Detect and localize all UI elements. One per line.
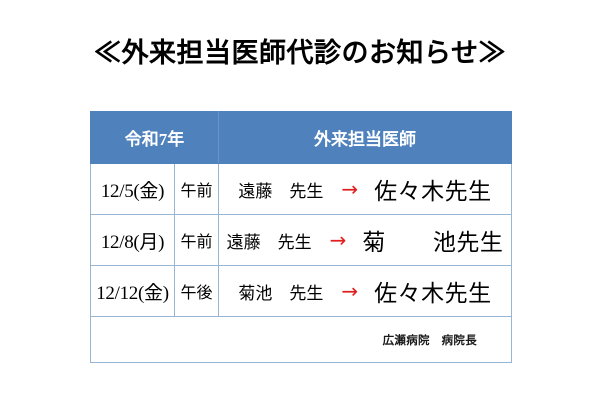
cell-doctor: 遠藤 先生 → 佐々木先生 bbox=[219, 164, 512, 215]
page-title: ≪外来担当医師代診のお知らせ≫ bbox=[0, 36, 600, 70]
schedule-table: 令和7年 外来担当医師 12/5(金) 午前 遠藤 先生 → 佐々木先生 12/… bbox=[90, 111, 512, 363]
doctor-original: 菊池 先生 bbox=[238, 279, 341, 304]
cell-doctor: 菊池 先生 → 佐々木先生 bbox=[219, 266, 512, 317]
arrow-right-icon: → bbox=[341, 179, 374, 199]
notice-page: ≪外来担当医師代診のお知らせ≫ 令和7年 外来担当医師 12/5(金) 午前 遠… bbox=[0, 0, 600, 400]
cell-date: 12/12(金) bbox=[91, 266, 175, 317]
table-row: 12/8(月) 午前 遠藤 先生 → 菊 池先生 bbox=[91, 215, 512, 266]
doctor-substitution: 遠藤 先生 → 菊 池先生 bbox=[219, 223, 511, 257]
arrow-right-icon: → bbox=[330, 230, 363, 250]
doctor-substitution: 菊池 先生 → 佐々木先生 bbox=[219, 274, 511, 308]
table-footer-row: 広瀬病院 病院長 bbox=[91, 317, 512, 363]
cell-doctor: 遠藤 先生 → 菊 池先生 bbox=[219, 215, 512, 266]
table-row: 12/12(金) 午後 菊池 先生 → 佐々木先生 bbox=[91, 266, 512, 317]
doctor-substitute: 佐々木先生 bbox=[374, 274, 492, 308]
doctor-substitute: 菊 池先生 bbox=[362, 223, 503, 257]
signature-cell: 広瀬病院 病院長 bbox=[91, 317, 512, 363]
hospital-signature: 広瀬病院 病院長 bbox=[383, 333, 477, 347]
table-row: 12/5(金) 午前 遠藤 先生 → 佐々木先生 bbox=[91, 164, 512, 215]
cell-date: 12/8(月) bbox=[91, 215, 175, 266]
cell-date: 12/5(金) bbox=[91, 164, 175, 215]
cell-period: 午前 bbox=[175, 215, 219, 266]
doctor-substitute: 佐々木先生 bbox=[374, 172, 492, 206]
cell-period: 午前 bbox=[175, 164, 219, 215]
doctor-original: 遠藤 先生 bbox=[238, 177, 341, 202]
cell-period: 午後 bbox=[175, 266, 219, 317]
doctor-original: 遠藤 先生 bbox=[227, 228, 330, 253]
header-year: 令和7年 bbox=[91, 112, 219, 164]
table-header-row: 令和7年 外来担当医師 bbox=[91, 112, 512, 164]
header-doctor: 外来担当医師 bbox=[219, 112, 512, 164]
arrow-right-icon: → bbox=[341, 281, 374, 301]
doctor-substitution: 遠藤 先生 → 佐々木先生 bbox=[219, 172, 511, 206]
